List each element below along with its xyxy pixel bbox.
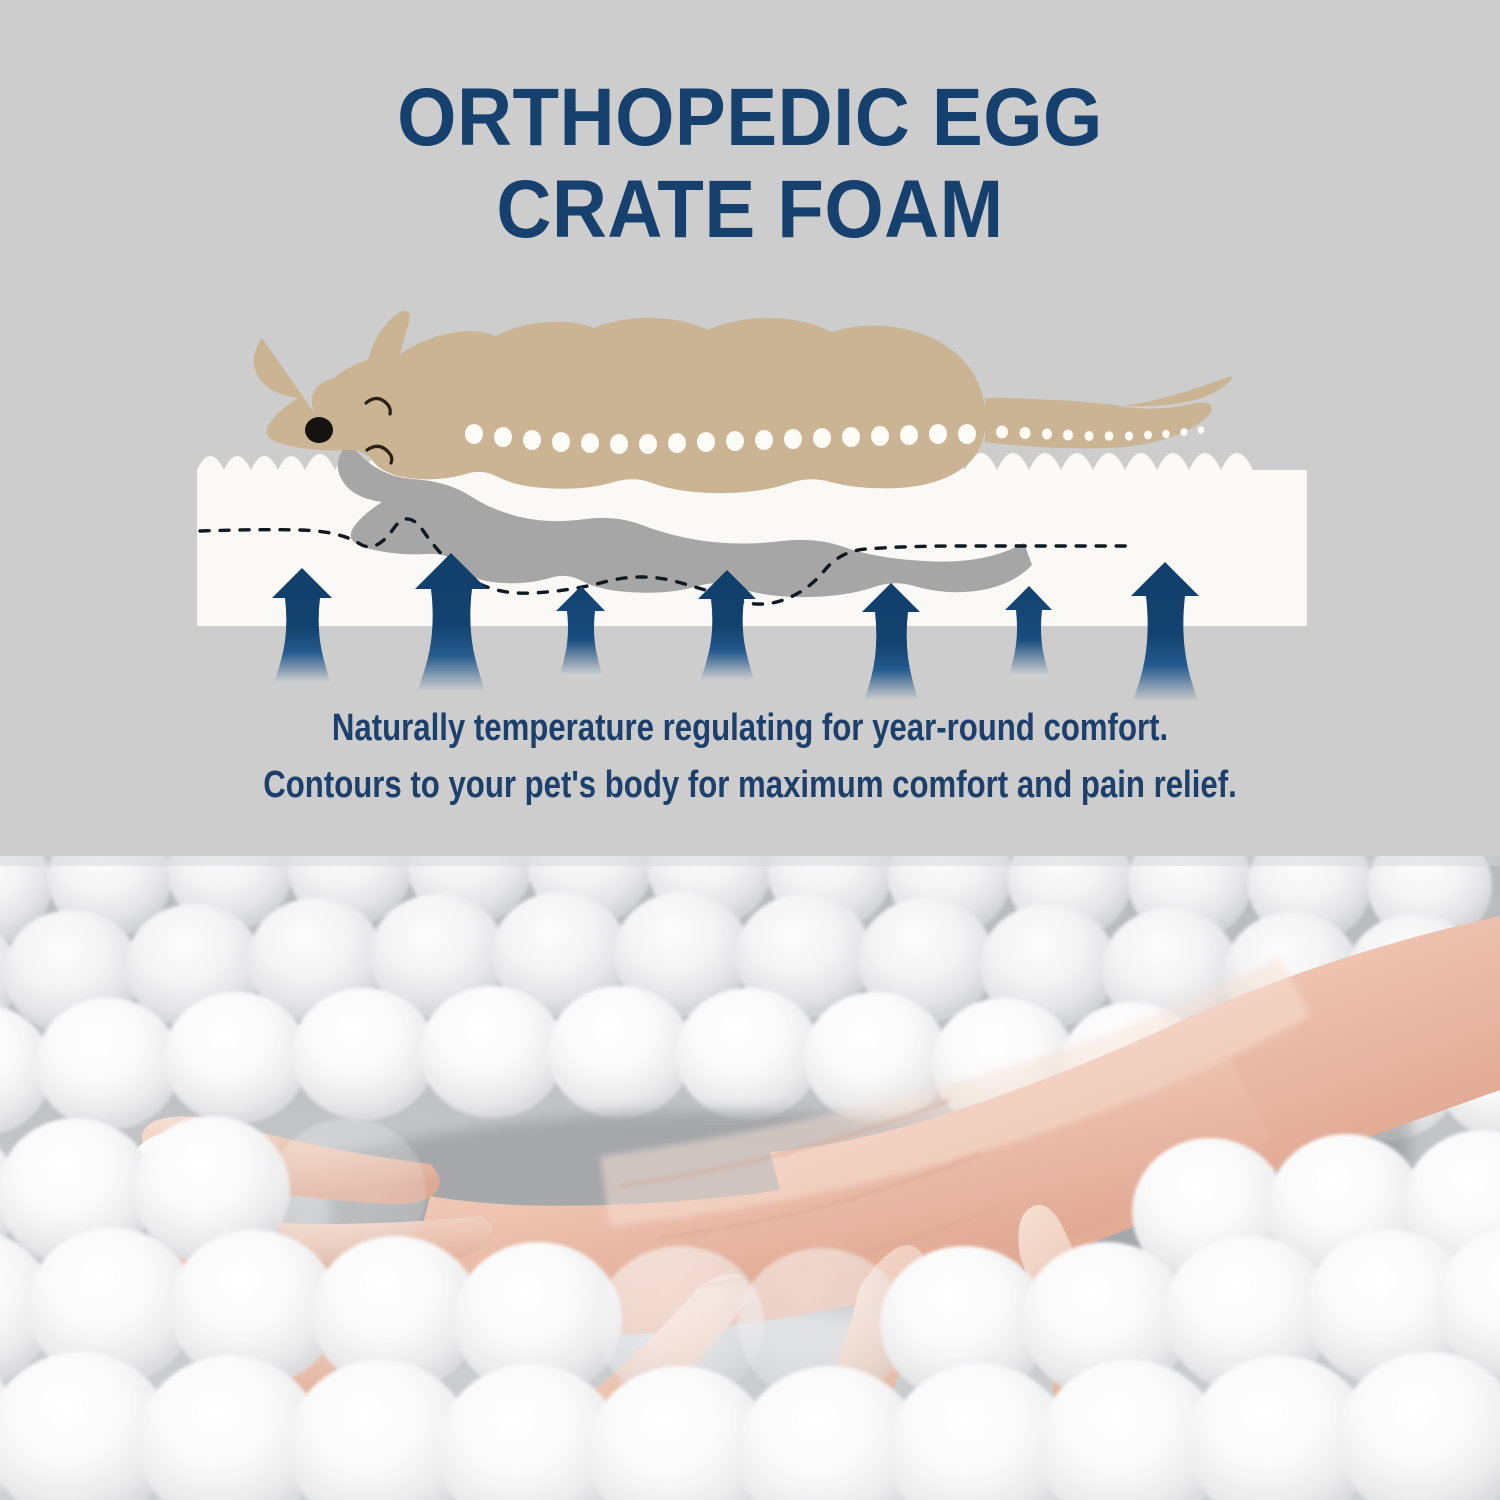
top-info-panel: ORTHOPEDIC EGG CRATE FOAM bbox=[0, 0, 1500, 856]
foam-photo bbox=[0, 856, 1500, 1500]
feature-description: Naturally temperature regulating for yea… bbox=[135, 700, 1365, 814]
dog-nose-icon bbox=[305, 417, 333, 443]
egg-crate-foam-texture bbox=[0, 856, 1500, 1500]
foam-support-illustration bbox=[0, 0, 1500, 700]
product-feature-graphic: ORTHOPEDIC EGG CRATE FOAM bbox=[0, 0, 1500, 1500]
